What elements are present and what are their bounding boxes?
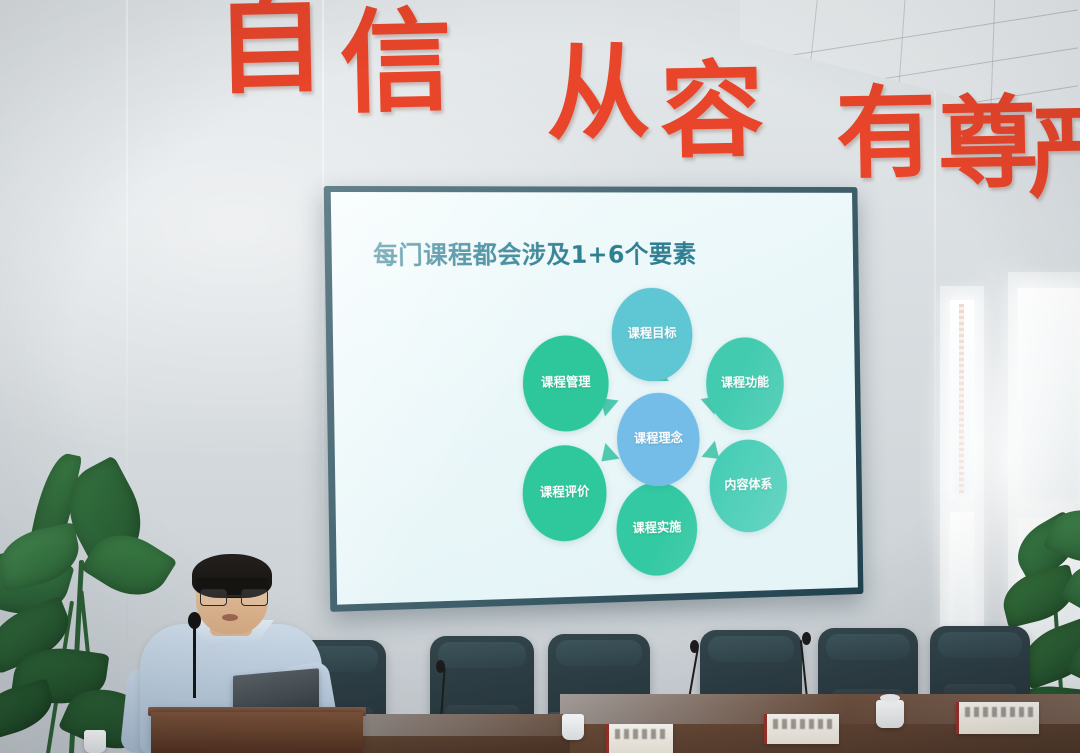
node-label: 课程功能: [715, 376, 774, 391]
node-label: 课程评价: [534, 485, 595, 501]
projection-screen: 每门课程都会涉及1+6个要素 课程目标 课程功能 内容体系: [324, 186, 864, 612]
speaker-mouth: [222, 614, 238, 621]
node-label: 课程管理: [535, 376, 596, 391]
slogan-char: 有: [835, 85, 937, 182]
microphone-head-icon: [690, 640, 699, 653]
teacup: [84, 730, 106, 753]
wall-slogan: 自 信 从 容 有 尊 严: [0, 0, 1080, 190]
diagram-center-course-concept: 课程理念: [616, 392, 700, 487]
name-plate: [764, 714, 839, 744]
glasses-icon: [200, 589, 266, 604]
slide-diagram: 课程目标 课程功能 内容体系 课程实施 课程评价 课程管理: [504, 287, 818, 584]
slogan-char: 容: [659, 61, 765, 162]
podium: [151, 712, 363, 753]
microphone-head-icon: [802, 632, 811, 645]
slogan-char: 自: [214, 0, 326, 98]
node-label: 课程实施: [627, 521, 687, 537]
slogan-char: 从: [545, 43, 651, 144]
teacup: [562, 714, 584, 740]
diagram-node-course-goal: 课程目标: [611, 288, 693, 382]
name-plate: [956, 702, 1039, 734]
node-label: 课程目标: [622, 327, 682, 342]
slogan-char: 尊: [937, 95, 1039, 192]
name-plate: [606, 724, 673, 753]
slogan-char: 严: [1027, 105, 1080, 202]
diagram-node-course-evaluation: 课程评价: [522, 444, 607, 542]
microphone-head-icon: [188, 612, 201, 629]
teacup: [876, 700, 904, 728]
node-label: 内容体系: [719, 478, 778, 493]
window-pane: [950, 300, 974, 498]
teacup-lid: [880, 694, 900, 702]
diagram-node-course-implementation: 课程实施: [616, 481, 698, 577]
window-pane: [1018, 288, 1080, 504]
diagram-node-course-management: 课程管理: [522, 335, 609, 432]
diagram-node-content-system: 内容体系: [709, 439, 788, 533]
diagram-node-course-function: 课程功能: [705, 337, 784, 431]
conference-room-photo: 自 信 从 容 有 尊 严 每门课程都会涉及1+6个要素: [0, 0, 1080, 753]
slide-title: 每门课程都会涉及1+6个要素: [373, 235, 697, 272]
microphone-head-icon: [436, 660, 445, 673]
podium-microphone: [193, 620, 196, 698]
table-reflection: [330, 714, 570, 736]
slogan-char: 信: [339, 9, 453, 118]
slide-surface: 每门课程都会涉及1+6个要素 课程目标 课程功能 内容体系: [331, 192, 858, 605]
center-label: 课程理念: [628, 432, 688, 447]
